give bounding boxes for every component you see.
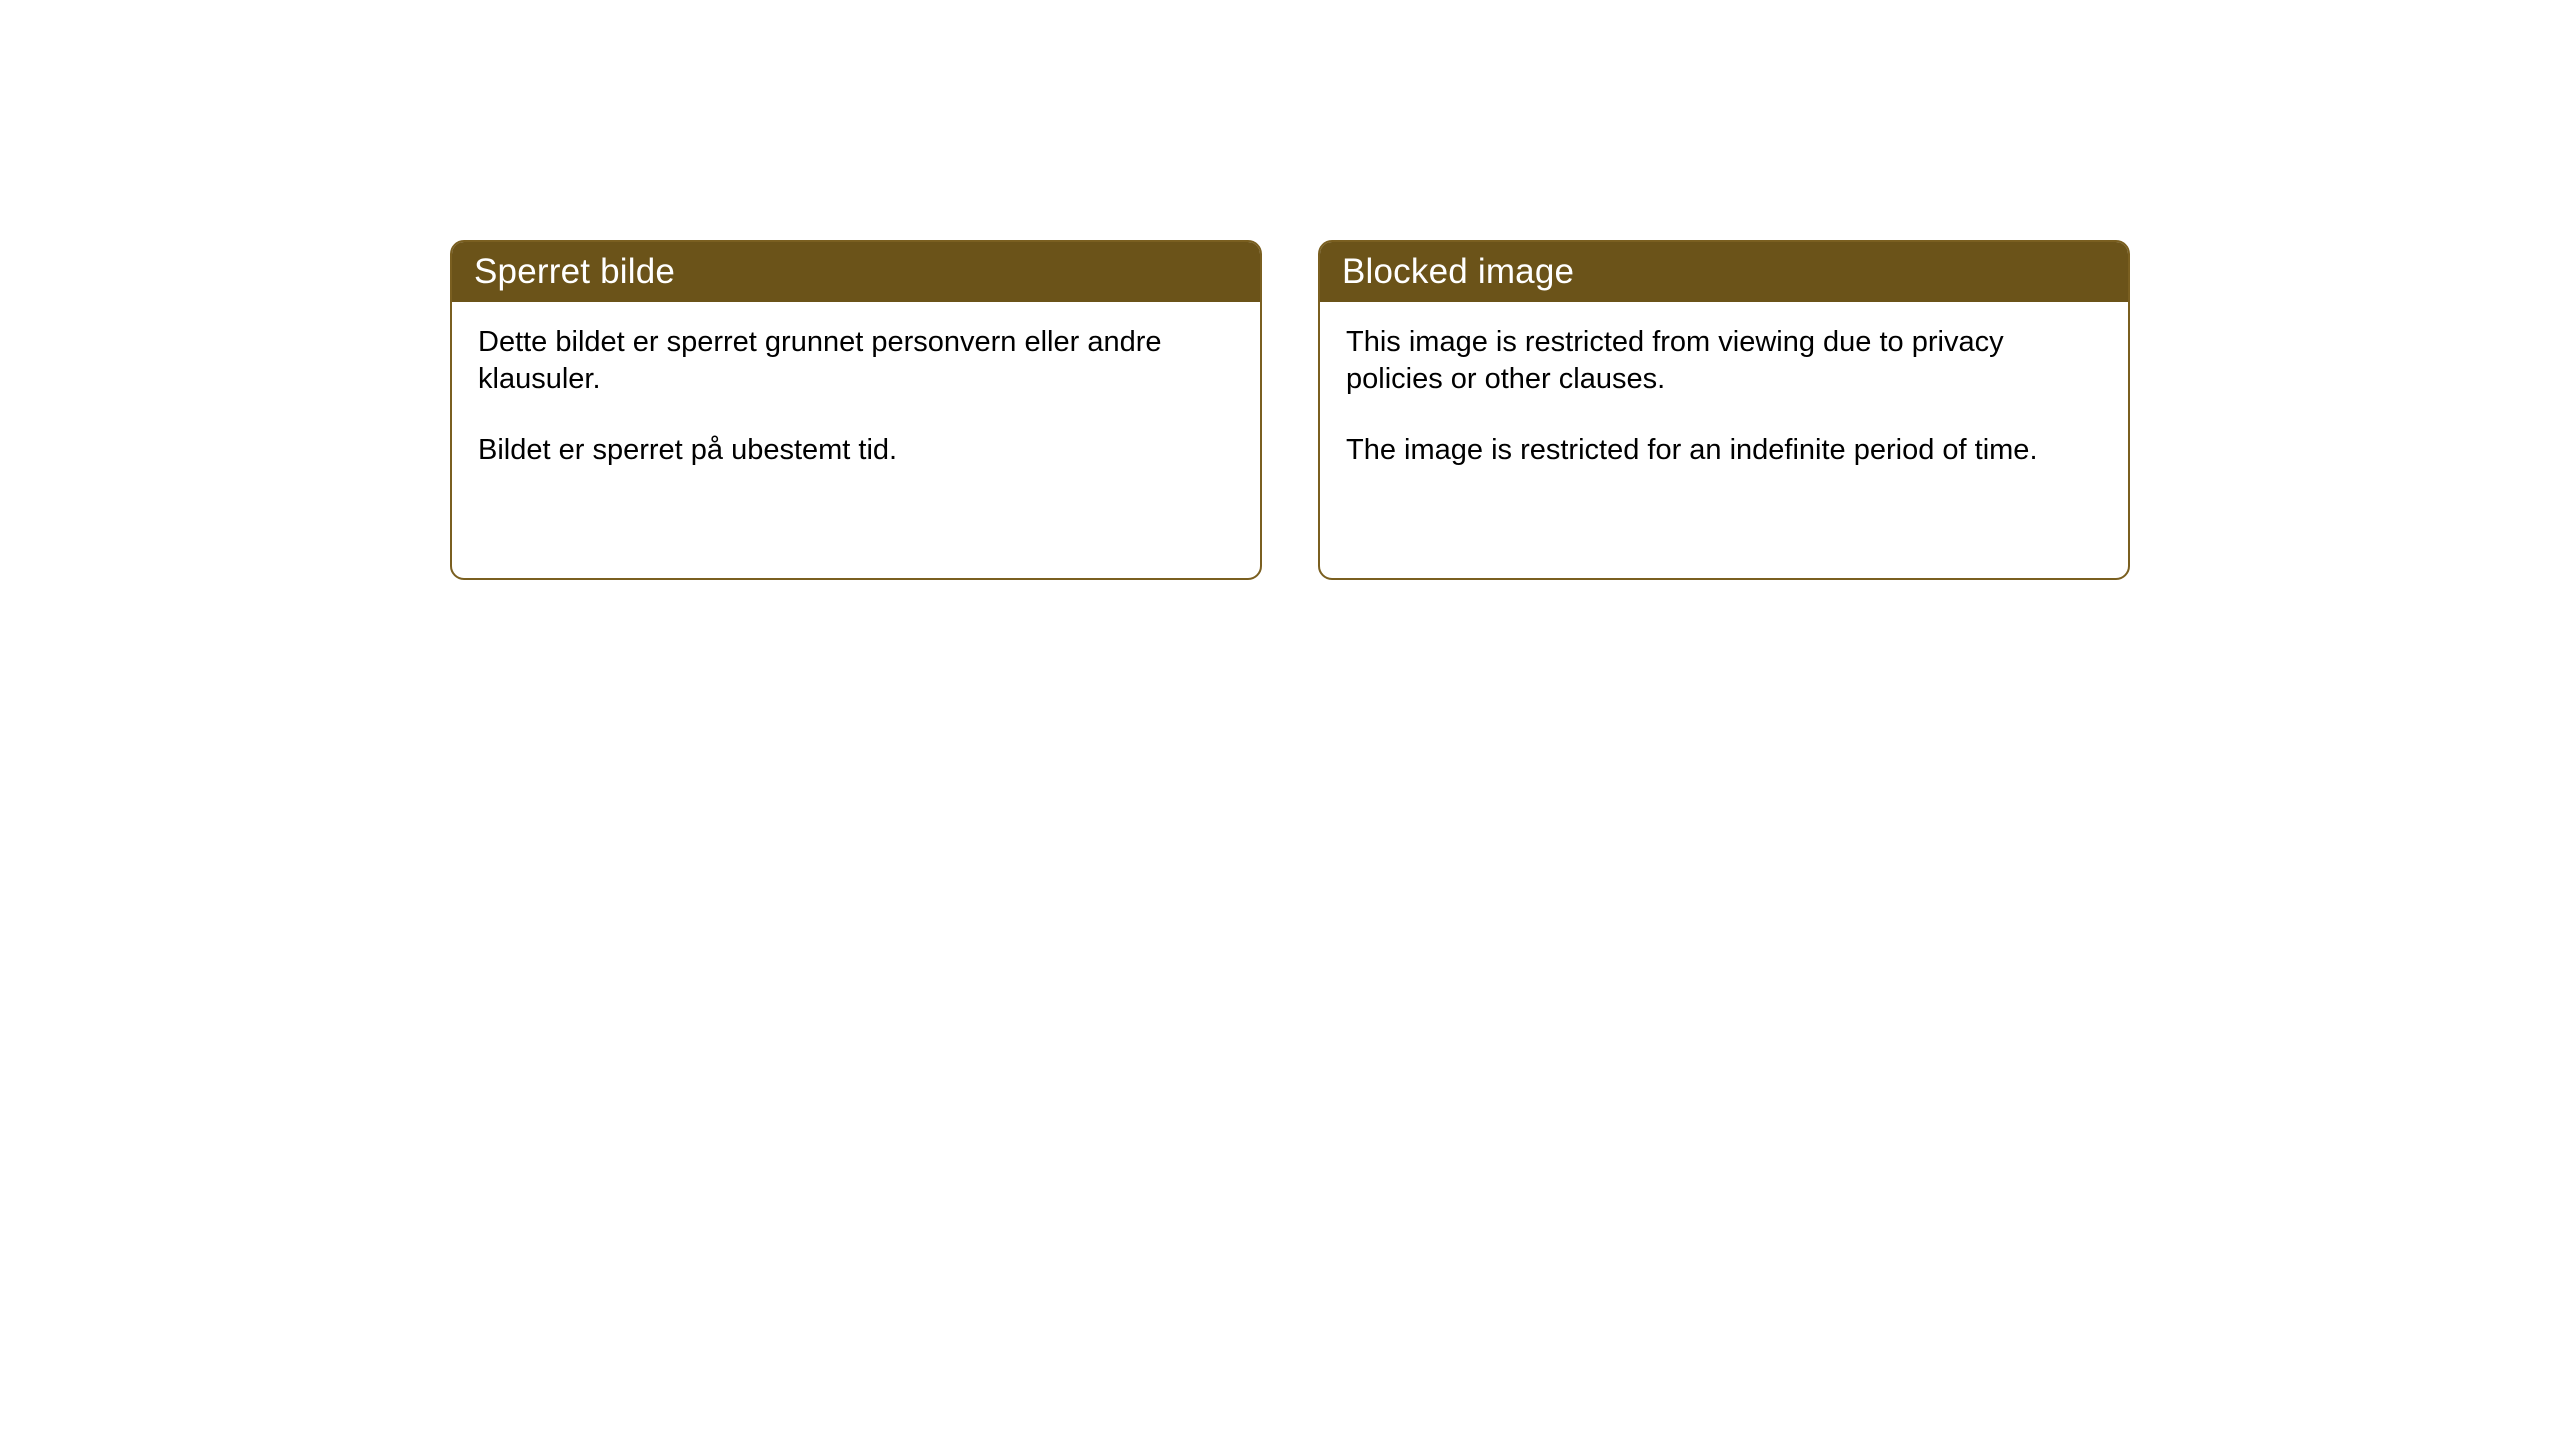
card-header-norwegian: Sperret bilde [450,240,1262,302]
card-paragraph-duration-english: The image is restricted for an indefinit… [1346,432,2102,469]
card-body-norwegian: Dette bildet er sperret grunnet personve… [452,302,1260,469]
card-paragraph-privacy-english: This image is restricted from viewing du… [1346,324,2102,398]
blocked-image-notice-card-english: Blocked image This image is restricted f… [1318,240,2130,580]
blocked-image-notice-card-norwegian: Sperret bilde Dette bildet er sperret gr… [450,240,1262,580]
page-canvas: Sperret bilde Dette bildet er sperret gr… [0,0,2560,1440]
card-title-english: Blocked image [1342,254,1574,289]
card-body-english: This image is restricted from viewing du… [1320,302,2128,469]
card-paragraph-privacy-norwegian: Dette bildet er sperret grunnet personve… [478,324,1234,398]
card-paragraph-duration-norwegian: Bildet er sperret på ubestemt tid. [478,432,1234,469]
card-header-english: Blocked image [1318,240,2130,302]
card-title-norwegian: Sperret bilde [474,254,675,289]
